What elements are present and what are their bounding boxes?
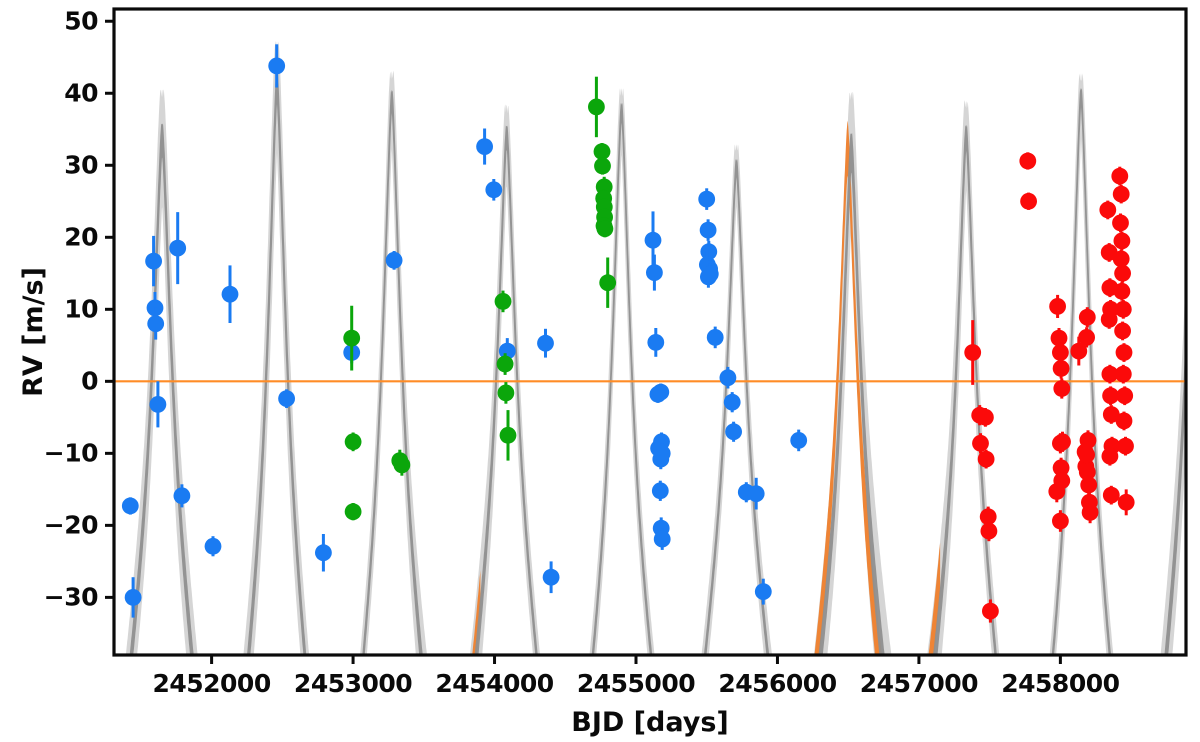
data-point	[1099, 202, 1116, 219]
data-point	[981, 523, 998, 540]
data-point	[1049, 298, 1066, 315]
y-tick-label: 20	[64, 223, 98, 252]
data-point	[720, 369, 737, 386]
data-point	[1048, 483, 1065, 500]
data-point	[1053, 360, 1070, 377]
data-point	[476, 138, 493, 155]
x-axis-title: BJD [days]	[571, 707, 729, 738]
data-point	[790, 432, 807, 449]
data-point	[485, 181, 502, 198]
data-point	[599, 274, 616, 291]
data-point	[315, 544, 332, 561]
data-point	[654, 445, 671, 462]
data-point	[147, 315, 164, 332]
y-tick-label: −30	[44, 583, 98, 612]
data-point	[702, 266, 719, 283]
data-point	[1116, 344, 1133, 361]
y-tick-label: −20	[44, 511, 98, 540]
data-point	[588, 99, 605, 116]
data-point	[707, 329, 724, 346]
data-point	[497, 356, 514, 373]
data-point	[724, 394, 741, 411]
data-point	[150, 396, 167, 413]
data-point	[1114, 233, 1131, 250]
data-point	[122, 498, 139, 515]
y-tick-label: 10	[64, 295, 98, 324]
y-tick-label: 50	[64, 7, 98, 36]
data-point	[1115, 366, 1132, 383]
x-tick-label: 2452000	[152, 669, 270, 698]
data-point	[748, 485, 765, 502]
data-point	[1114, 283, 1131, 300]
x-tick-label: 2453000	[294, 669, 412, 698]
data-point	[345, 433, 362, 450]
data-point	[343, 330, 360, 347]
data-point	[700, 222, 717, 239]
data-point	[1020, 193, 1037, 210]
y-tick-label: 40	[64, 79, 98, 108]
data-point	[1103, 487, 1120, 504]
data-point	[145, 253, 162, 270]
data-point	[1052, 513, 1069, 530]
x-tick-label: 2456000	[718, 669, 836, 698]
x-tick-label: 2455000	[577, 669, 695, 698]
data-point	[645, 232, 662, 249]
data-point	[1079, 309, 1096, 326]
x-tick-label: 2457000	[860, 669, 978, 698]
data-point	[982, 603, 999, 620]
data-point	[222, 286, 239, 303]
data-point	[1080, 477, 1097, 494]
data-point	[725, 423, 742, 440]
data-point	[205, 538, 222, 555]
data-point	[654, 531, 671, 548]
data-point	[394, 457, 411, 474]
data-point	[1115, 301, 1132, 318]
x-tick-label: 2454000	[435, 669, 553, 698]
data-point	[1114, 323, 1131, 340]
data-point	[1078, 329, 1095, 346]
rv-timeseries-figure: 2452000245300024540002455000245600024570…	[0, 0, 1200, 742]
series-instrument_1	[122, 44, 807, 617]
y-tick-label: 0	[81, 367, 98, 396]
data-point	[646, 264, 663, 281]
y-tick-label: −10	[44, 439, 98, 468]
data-point	[1118, 494, 1135, 511]
data-point	[386, 252, 403, 269]
data-point	[1054, 433, 1071, 450]
data-point	[1082, 504, 1099, 521]
data-point	[1112, 215, 1129, 232]
data-point	[972, 435, 989, 452]
x-tick-label: 2458000	[1001, 669, 1119, 698]
data-point	[543, 569, 560, 586]
data-point	[1101, 311, 1118, 328]
plot-canvas	[0, 0, 1200, 742]
data-point	[537, 335, 554, 352]
y-axis-title: RV [m/s]	[18, 267, 49, 397]
data-point	[1113, 186, 1130, 203]
data-point	[1080, 432, 1097, 449]
y-tick-label: 30	[64, 151, 98, 180]
data-point	[652, 384, 669, 401]
data-point	[125, 589, 142, 606]
data-point	[755, 583, 772, 600]
data-point	[1114, 265, 1131, 282]
data-point	[495, 293, 512, 310]
data-point	[1019, 153, 1036, 170]
data-point	[978, 451, 995, 468]
data-point	[1053, 380, 1070, 397]
data-point	[1102, 448, 1119, 465]
data-point	[169, 240, 186, 257]
data-point	[964, 344, 981, 361]
data-point	[652, 482, 669, 499]
data-point	[597, 220, 614, 237]
data-point	[647, 334, 664, 351]
data-point	[1116, 413, 1133, 430]
data-point	[268, 58, 285, 75]
data-point	[498, 385, 515, 402]
data-point	[278, 390, 295, 407]
data-point	[698, 191, 715, 208]
data-point	[174, 487, 191, 504]
data-point	[1116, 387, 1133, 404]
data-point	[1117, 438, 1134, 455]
data-point	[977, 409, 994, 426]
data-point	[345, 503, 362, 520]
data-point	[500, 427, 517, 444]
data-point	[1111, 168, 1128, 185]
data-point	[594, 158, 611, 175]
